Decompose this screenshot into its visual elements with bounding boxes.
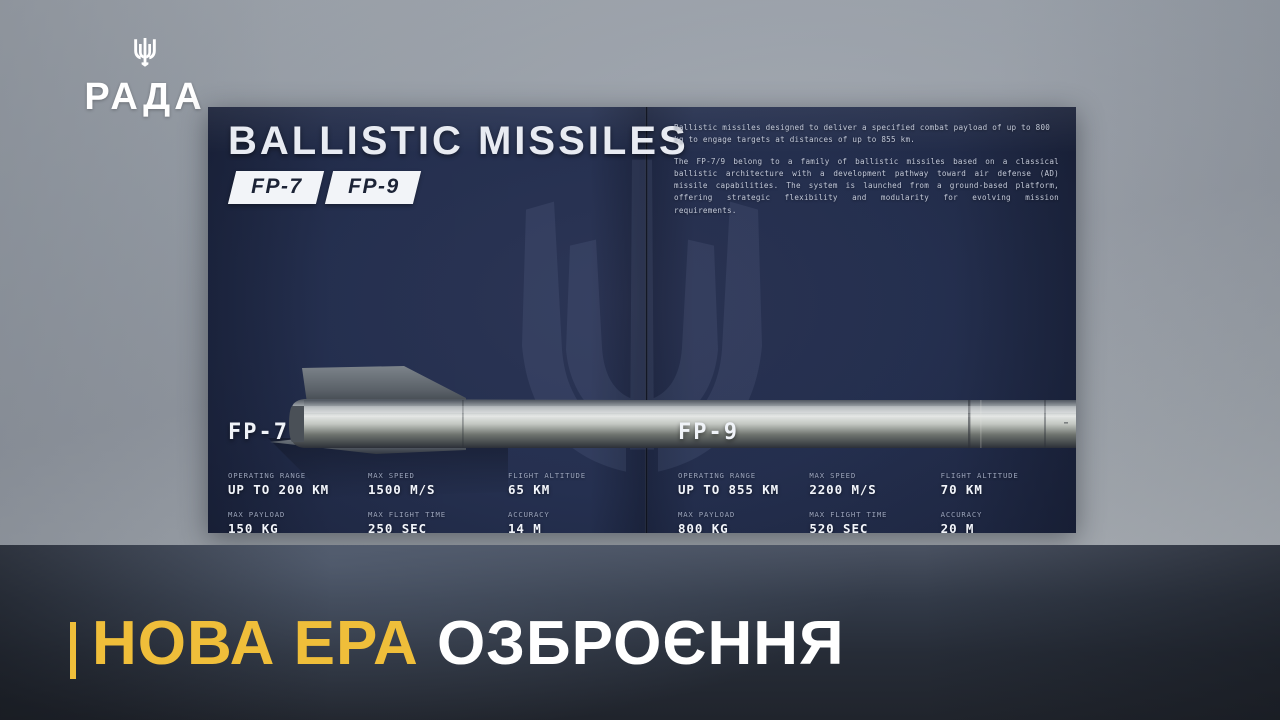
lower-third-accent-text: НОВА ЕРА — [92, 609, 437, 678]
spec-value: UP TO 855 KM — [678, 484, 805, 497]
spec-label: ACCURACY — [941, 511, 1068, 518]
spec-value: 150 KG — [228, 523, 364, 533]
spec-item: FLIGHT ALTITUDE 65 KM — [508, 472, 644, 497]
spec-label: ACCURACY — [508, 511, 644, 518]
spec-value: 800 KG — [678, 523, 805, 533]
spec-item: MAX FLIGHT TIME 520 SEC — [809, 511, 936, 533]
spec-value: 2200 M/S — [809, 484, 936, 497]
model-badge-group: FP-7 FP-9 — [232, 171, 416, 204]
spec-column-fp7: FP-7 OPERATING RANGE UP TO 200 KM MAX SP… — [228, 422, 644, 533]
spec-label: MAX FLIGHT TIME — [809, 511, 936, 518]
spec-value: 70 KM — [941, 484, 1068, 497]
spec-item: MAX FLIGHT TIME 250 SEC — [368, 511, 504, 533]
spec-value: 65 KM — [508, 484, 644, 497]
spec-label: MAX FLIGHT TIME — [368, 511, 504, 518]
spec-item: ACCURACY 14 M — [508, 511, 644, 533]
description-copy: Ballistic missiles designed to deliver a… — [674, 122, 1059, 217]
page-title: BALLISTIC MISSILES — [228, 121, 689, 161]
lower-third-main-text: ОЗБРОЄННЯ — [437, 609, 845, 678]
spec-grid-fp9: OPERATING RANGE UP TO 855 KM MAX SPEED 2… — [678, 472, 1068, 533]
spec-item: OPERATING RANGE UP TO 200 KM — [228, 472, 364, 497]
missile-spec-document: BALLISTIC MISSILES FP-7 FP-9 Ballistic m… — [208, 107, 1076, 533]
spec-item: OPERATING RANGE UP TO 855 KM — [678, 472, 805, 497]
spec-value: 20 M — [941, 523, 1068, 533]
model-badge-fp7: FP-7 — [228, 171, 324, 204]
spec-label: MAX PAYLOAD — [678, 511, 805, 518]
spec-value: 1500 M/S — [368, 484, 504, 497]
spec-item: MAX PAYLOAD 150 KG — [228, 511, 364, 533]
spec-item: MAX PAYLOAD 800 KG — [678, 511, 805, 533]
spec-title-fp7: FP-7 — [228, 422, 644, 444]
description-paragraph-2: The FP-7/9 belong to a family of ballist… — [674, 156, 1059, 217]
channel-name: РАДА — [84, 78, 205, 116]
spec-value: 520 SEC — [809, 523, 936, 533]
spec-label: OPERATING RANGE — [228, 472, 364, 479]
spec-item: ACCURACY 20 M — [941, 511, 1068, 533]
model-badge-fp7-label: FP-7 — [251, 175, 303, 199]
model-badge-fp9: FP-9 — [324, 171, 420, 204]
broadcast-frame: РАДА BALLISTIC MISSILES FP-7 — [0, 0, 1280, 720]
lower-third-accent-bar — [70, 622, 76, 679]
spec-label: MAX SPEED — [368, 472, 504, 479]
spec-item: MAX SPEED 2200 M/S — [809, 472, 936, 497]
spec-label: MAX PAYLOAD — [228, 511, 364, 518]
model-badge-fp9-label: FP-9 — [348, 175, 400, 199]
spec-item: FLIGHT ALTITUDE 70 KM — [941, 472, 1068, 497]
description-paragraph-1: Ballistic missiles designed to deliver a… — [674, 122, 1059, 147]
spec-item: MAX SPEED 1500 M/S — [368, 472, 504, 497]
spec-grid-fp7: OPERATING RANGE UP TO 200 KM MAX SPEED 1… — [228, 472, 644, 533]
lower-third-headline: НОВА ЕРА ОЗБРОЄННЯ — [92, 608, 845, 679]
spec-label: MAX SPEED — [809, 472, 936, 479]
spec-column-fp9: FP-9 OPERATING RANGE UP TO 855 KM MAX SP… — [678, 422, 1068, 533]
spec-label: FLIGHT ALTITUDE — [508, 472, 644, 479]
spec-value: 250 SEC — [368, 523, 504, 533]
channel-logo: РАДА — [60, 36, 230, 116]
spec-label: FLIGHT ALTITUDE — [941, 472, 1068, 479]
ukraine-trident-icon — [132, 36, 158, 73]
spec-value: UP TO 200 KM — [228, 484, 364, 497]
spec-value: 14 M — [508, 523, 644, 533]
spec-label: OPERATING RANGE — [678, 472, 805, 479]
spec-title-fp9: FP-9 — [678, 422, 1068, 444]
